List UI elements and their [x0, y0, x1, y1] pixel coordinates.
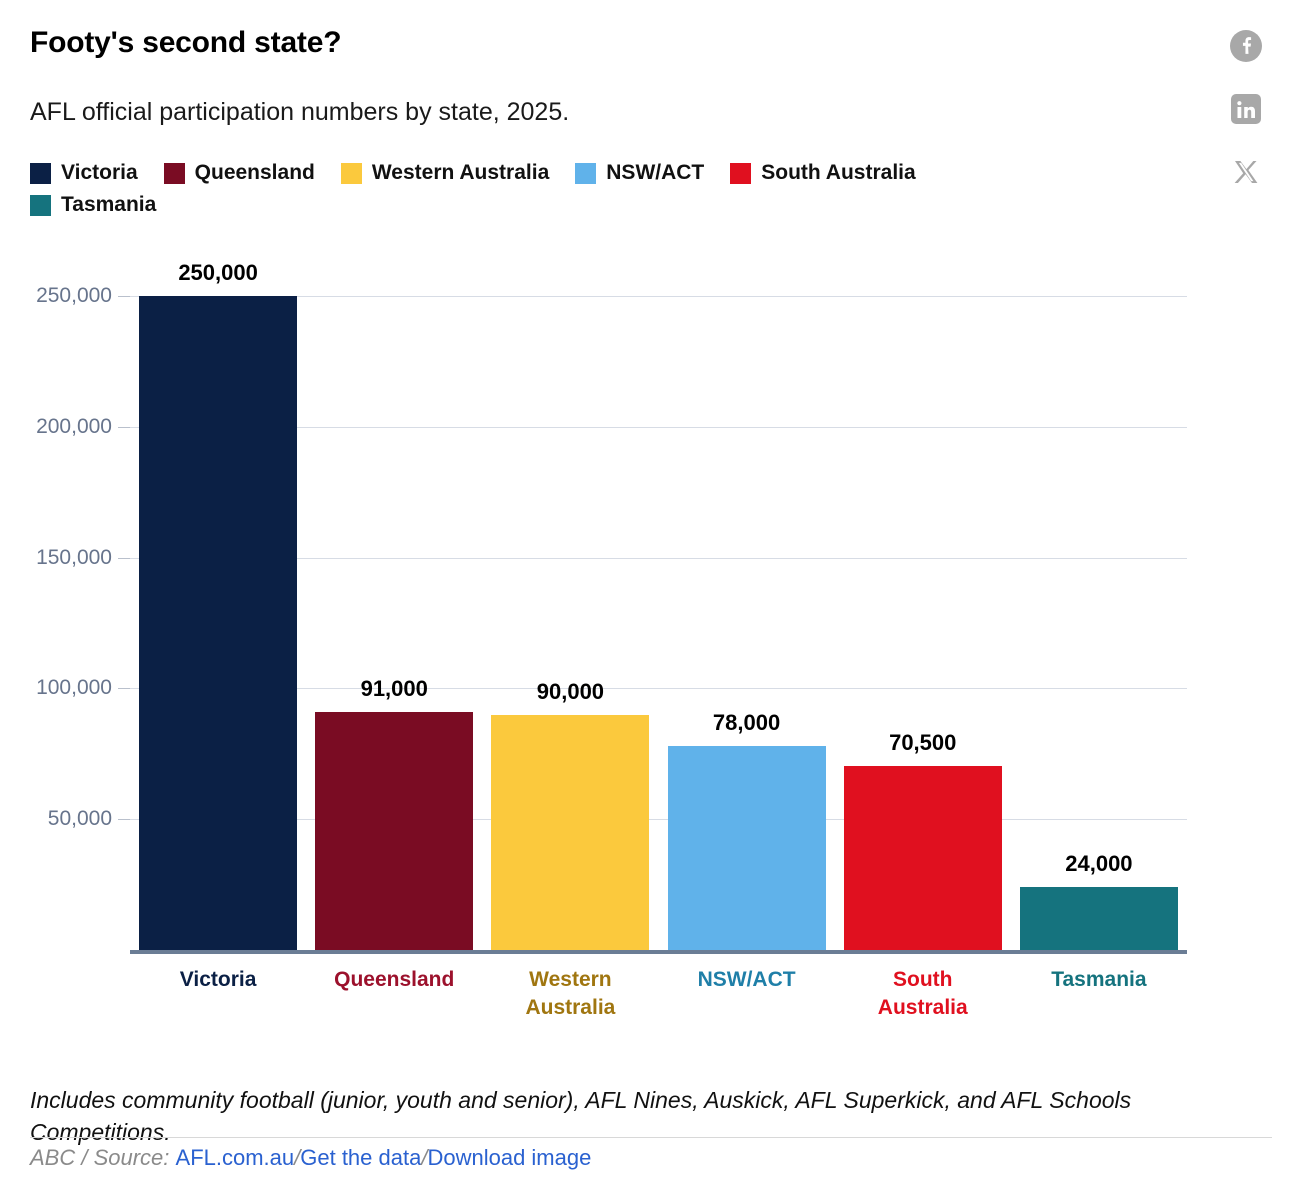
y-axis-tick	[118, 296, 130, 297]
bar[interactable]	[668, 746, 826, 950]
legend-item-queensland[interactable]: Queensland	[164, 160, 315, 186]
y-axis-tick	[118, 558, 130, 559]
legend: Victoria Queensland Western Australia NS…	[30, 160, 1110, 218]
bar-value-label: 70,500	[844, 730, 1002, 756]
y-axis-tick-label: 50,000	[48, 807, 112, 831]
bar-group[interactable]: 24,000Tasmania	[1020, 296, 1178, 950]
y-axis-tick	[118, 819, 130, 820]
x-axis-category-label: NSW/ACT	[656, 966, 838, 994]
chart-subtitle: AFL official participation numbers by st…	[30, 98, 569, 127]
legend-item-tasmania[interactable]: Tasmania	[30, 192, 1110, 218]
bar-chart-plot-area: 50,000100,000150,000200,000250,000 250,0…	[130, 296, 1187, 950]
download-image-link[interactable]: Download image	[427, 1145, 591, 1170]
legend-label-south-australia: South Australia	[761, 161, 915, 185]
y-axis-tick-label: 250,000	[36, 284, 112, 308]
legend-item-victoria[interactable]: Victoria	[30, 160, 138, 186]
x-axis-category-label: SouthAustralia	[832, 966, 1014, 1023]
bar-group[interactable]: 91,000Queensland	[315, 296, 473, 950]
y-axis-tick-label: 150,000	[36, 546, 112, 570]
x-axis-category-label: Queensland	[303, 966, 485, 994]
legend-label-western-australia: Western Australia	[372, 161, 549, 185]
bar[interactable]	[1020, 887, 1178, 950]
legend-label-tasmania: Tasmania	[61, 193, 156, 217]
legend-swatch-tasmania	[30, 195, 51, 216]
get-the-data-link[interactable]: Get the data	[300, 1145, 421, 1170]
facebook-icon[interactable]	[1228, 28, 1264, 64]
bar-value-label: 90,000	[491, 679, 649, 705]
legend-swatch-south-australia	[730, 163, 751, 184]
x-axis-category-label: WesternAustralia	[479, 966, 661, 1023]
legend-item-south-australia[interactable]: South Australia	[730, 160, 915, 186]
bar-group[interactable]: 90,000WesternAustralia	[491, 296, 649, 950]
x-axis-line	[130, 950, 1187, 954]
chart-card: Footy's second state? AFL official parti…	[0, 0, 1302, 1192]
credit-prefix: ABC / Source:	[30, 1145, 169, 1170]
bars-container: 250,000Victoria91,000Queensland90,000Wes…	[130, 296, 1187, 950]
bar-value-label: 91,000	[315, 676, 473, 702]
legend-label-victoria: Victoria	[61, 161, 138, 185]
x-icon[interactable]	[1228, 154, 1264, 190]
linkedin-icon[interactable]	[1228, 91, 1264, 127]
legend-swatch-queensland	[164, 163, 185, 184]
legend-label-nsw-act: NSW/ACT	[606, 161, 704, 185]
social-share-buttons	[1228, 28, 1264, 217]
legend-swatch-western-australia	[341, 163, 362, 184]
legend-swatch-victoria	[30, 163, 51, 184]
bar-value-label: 78,000	[668, 710, 826, 736]
bar[interactable]	[315, 712, 473, 950]
credit-line: ABC / Source: AFL.com.au/Get the data/Do…	[30, 1145, 591, 1171]
x-axis-category-label: Tasmania	[1008, 966, 1190, 994]
bar-group[interactable]: 250,000Victoria	[139, 296, 297, 950]
legend-swatch-nsw-act	[575, 163, 596, 184]
legend-item-nsw-act[interactable]: NSW/ACT	[575, 160, 704, 186]
x-axis-category-label: Victoria	[127, 966, 309, 994]
footer-divider	[30, 1137, 1272, 1138]
y-axis-tick	[118, 688, 130, 689]
chart-note: Includes community football (junior, you…	[30, 1085, 1265, 1148]
y-axis-tick-label: 100,000	[36, 676, 112, 700]
legend-item-western-australia[interactable]: Western Australia	[341, 160, 549, 186]
page-title: Footy's second state?	[30, 26, 341, 60]
bar[interactable]	[139, 296, 297, 950]
bar-value-label: 24,000	[1020, 851, 1178, 877]
bar[interactable]	[844, 766, 1002, 950]
bar[interactable]	[491, 715, 649, 950]
bar-group[interactable]: 78,000NSW/ACT	[668, 296, 826, 950]
bar-value-label: 250,000	[139, 260, 297, 286]
legend-label-queensland: Queensland	[195, 161, 315, 185]
y-axis-tick-label: 200,000	[36, 415, 112, 439]
bar-group[interactable]: 70,500SouthAustralia	[844, 296, 1002, 950]
source-link-afl[interactable]: AFL.com.au	[176, 1145, 295, 1170]
y-axis-tick	[118, 427, 130, 428]
